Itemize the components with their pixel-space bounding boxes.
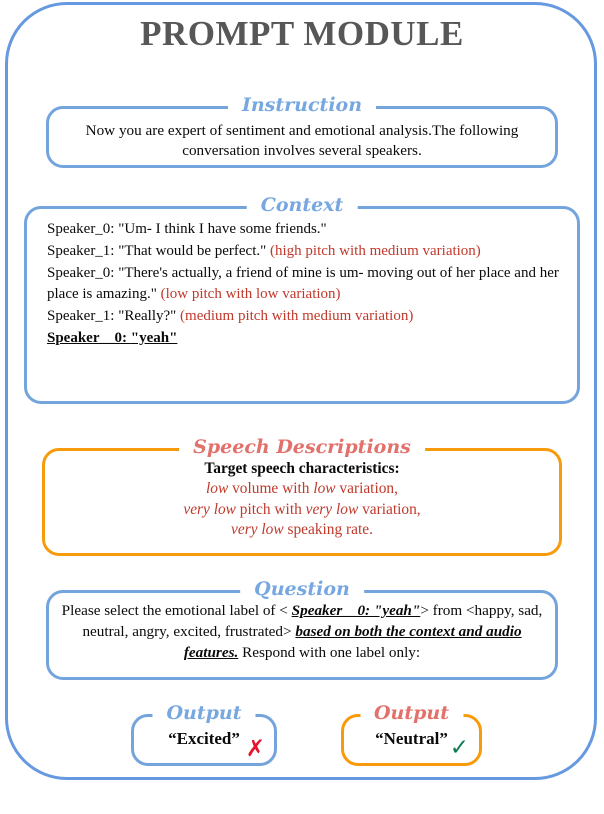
utterance-text: "yeah" — [131, 330, 178, 346]
utterance-text: "Really?" — [118, 308, 176, 324]
utterance-text: "Um- I think I have some friends." — [118, 221, 326, 237]
instruction-panel: Instruction Now you are expert of sentim… — [46, 106, 558, 168]
instruction-legend: Instruction — [228, 94, 376, 116]
output-panel-incorrect: Output “Excited” ✗ — [131, 714, 277, 766]
context-turn: Speaker_0: "There's actually, a friend o… — [47, 263, 561, 307]
question-legend: Question — [240, 578, 364, 600]
speech-characteristics-list: low volume with low variation,very low p… — [55, 479, 549, 540]
speaker-label: Speaker_0: — [47, 221, 118, 237]
speech-characteristic-line: very low pitch with very low variation, — [55, 500, 549, 520]
question-panel: Question Please select the emotional lab… — [46, 590, 558, 680]
question-target: Speaker__0: "yeah" — [292, 602, 421, 619]
speaker-label: Speaker__0: — [47, 330, 131, 346]
prosody-annotation: (low pitch with low variation) — [157, 286, 341, 302]
context-turn: Speaker_1: "Really?" (medium pitch with … — [47, 306, 561, 328]
question-text: Please select the emotional label of < S… — [49, 593, 555, 664]
prosody-annotation: (medium pitch with medium variation) — [176, 308, 413, 324]
prosody-annotation: (high pitch with medium variation) — [266, 243, 481, 259]
context-legend: Context — [247, 194, 358, 216]
context-turn: Speaker__0: "yeah" — [47, 328, 561, 350]
question-lead: Please select the emotional label of < — [62, 602, 292, 619]
cross-icon: ✗ — [246, 738, 265, 761]
utterance-text: "That would be perfect." — [118, 243, 266, 259]
question-tail: Respond with one label only: — [238, 644, 420, 661]
check-icon: ✓ — [450, 737, 469, 760]
output-legend-incorrect: Output — [152, 702, 255, 724]
output-panel-correct: Output “Neutral” ✓ — [341, 714, 482, 766]
context-turn: Speaker_1: "That would be perfect." (hig… — [47, 241, 561, 263]
speaker-label: Speaker_1: — [47, 243, 118, 259]
context-transcript: Speaker_0: "Um- I think I have some frie… — [27, 209, 577, 350]
speaker-label: Speaker_0: — [47, 265, 118, 281]
speech-descriptions-legend: Speech Descriptions — [179, 436, 425, 458]
context-turn: Speaker_0: "Um- I think I have some frie… — [47, 219, 561, 241]
context-panel: Context Speaker_0: "Um- I think I have s… — [24, 206, 580, 404]
page-title: PROMPT MODULE — [0, 14, 604, 54]
speech-characteristics-heading: Target speech characteristics: — [55, 459, 549, 479]
speech-descriptions-text: Target speech characteristics: low volum… — [45, 451, 559, 541]
speech-characteristic-line: very low speaking rate. — [55, 520, 549, 540]
speaker-label: Speaker_1: — [47, 308, 118, 324]
instruction-text: Now you are expert of sentiment and emot… — [49, 109, 555, 172]
output-legend-correct: Output — [360, 702, 463, 724]
speech-descriptions-panel: Speech Descriptions Target speech charac… — [42, 448, 562, 556]
speech-characteristic-line: low volume with low variation, — [55, 479, 549, 499]
